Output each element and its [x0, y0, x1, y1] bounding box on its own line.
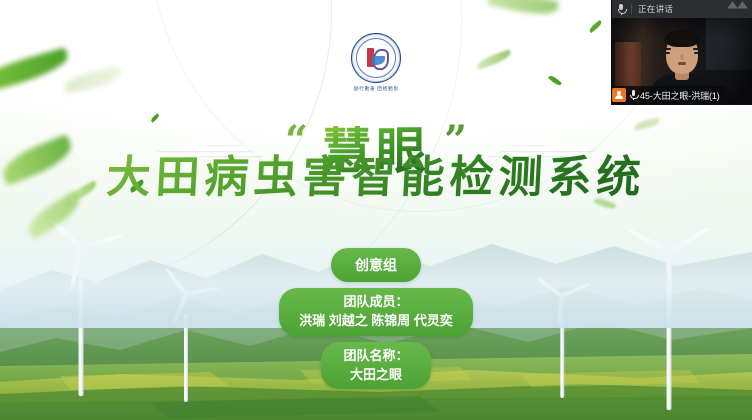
screen-share-stage: 励行勤奋 团结勤思 “ 慧眼 ” 大田病虫害智能检测系统 创意组 团队成员： 洪…	[0, 0, 752, 420]
participant-name: 45-大田之眼-洪瑞(1)	[640, 89, 720, 102]
pill-line: 大田之眼	[343, 366, 408, 385]
participant-name-badge: 45-大田之眼-洪瑞(1)	[612, 86, 725, 104]
pill-line: 创意组	[355, 255, 397, 275]
participant-video-panel[interactable]: 正在讲话	[611, 0, 752, 105]
video-feed[interactable]: 45-大田之眼-洪瑞(1)	[612, 18, 752, 104]
group-category-pill: 创意组	[331, 248, 421, 282]
team-name-pill: 团队名称： 大田之眼	[321, 342, 430, 390]
user-avatar-icon	[612, 88, 626, 102]
team-members-pill: 团队成员： 洪瑞 刘越之 陈锦周 代灵奕	[279, 288, 473, 336]
microphone-icon	[617, 4, 625, 15]
emblem-mark	[365, 47, 387, 69]
chevrons-collapse-icon[interactable]	[728, 4, 747, 13]
microphone-icon	[630, 90, 637, 100]
pill-line: 团队成员：	[299, 293, 453, 312]
pill-line: 洪瑞 刘越之 陈锦周 代灵奕	[299, 312, 453, 331]
video-panel-header: 正在讲话	[612, 0, 752, 18]
info-pill-group: 创意组 团队成员： 洪瑞 刘越之 陈锦周 代灵奕 团队名称： 大田之眼	[0, 248, 752, 389]
header-divider	[631, 4, 632, 14]
university-emblem-icon	[351, 33, 401, 83]
slide-subtitle: 大田病虫害智能检测系统	[0, 150, 752, 205]
pill-line: 团队名称：	[343, 347, 408, 366]
speaking-status-text: 正在讲话	[638, 3, 673, 15]
